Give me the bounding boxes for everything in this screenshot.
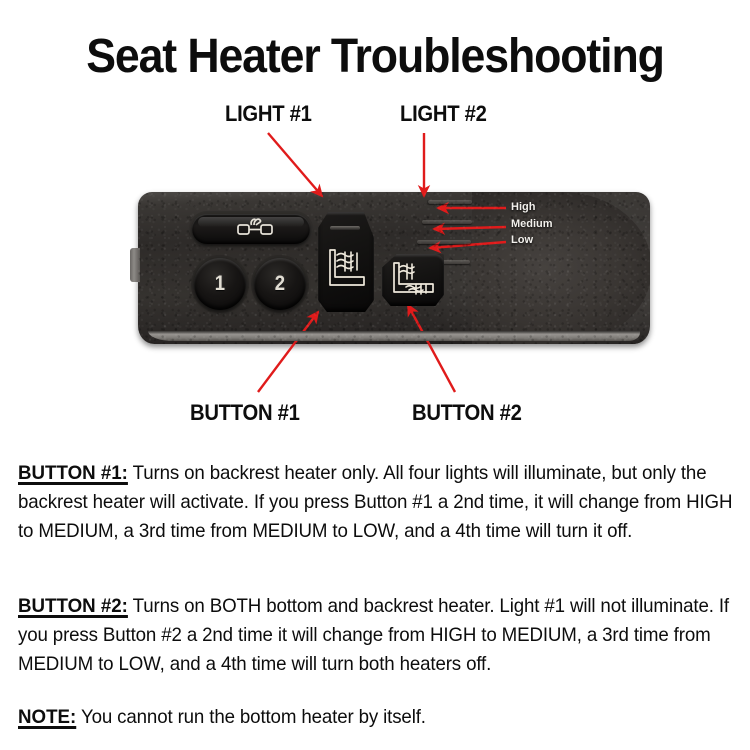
callout-button-2: BUTTON #2 <box>412 401 522 425</box>
instruction-paragraph-3: NOTE: You cannot run the bottom heater b… <box>18 703 733 732</box>
instruction-paragraph-2: BUTTON #2: Turns on BOTH bottom and back… <box>18 592 733 679</box>
indicator-label-medium: Medium <box>511 218 553 231</box>
memory-button-1-label: 1 <box>215 272 225 296</box>
page-root: Seat Heater Troubleshooting LIGHT #1 LIG… <box>0 0 750 750</box>
heater-button-2[interactable] <box>382 254 444 306</box>
instruction-2-lead: BUTTON #2: <box>18 595 128 617</box>
indicator-label-low: Low <box>511 234 533 247</box>
seat-full-heat-icon <box>389 260 439 300</box>
memory-seat-icon <box>192 214 310 244</box>
heater-button-1[interactable] <box>318 212 374 312</box>
callout-light-1: LIGHT #1 <box>225 102 312 126</box>
memory-button-2-label: 2 <box>275 272 285 296</box>
callout-button-1: BUTTON #1 <box>190 401 300 425</box>
memory-set-button[interactable] <box>192 214 310 244</box>
callout-light-2: LIGHT #2 <box>400 102 487 126</box>
memory-button-1[interactable]: 1 <box>194 258 246 310</box>
indicator-bar-3 <box>417 240 471 244</box>
indicator-bar-2 <box>422 220 472 224</box>
page-title: Seat Heater Troubleshooting <box>26 30 724 84</box>
instruction-paragraph-1: BUTTON #1: Turns on backrest heater only… <box>18 459 733 546</box>
instruction-3-text: You cannot run the bottom heater by itse… <box>76 706 426 728</box>
button-notch <box>330 226 360 230</box>
indicator-bar-1 <box>428 200 472 204</box>
indicator-label-high: High <box>511 201 535 214</box>
instruction-1-lead: BUTTON #1: <box>18 462 128 484</box>
instruction-3-lead: NOTE: <box>18 706 76 728</box>
seat-backrest-heat-icon <box>324 247 370 295</box>
memory-button-2[interactable]: 2 <box>254 258 306 310</box>
seat-heater-control-panel: 1 2 <box>130 186 660 351</box>
